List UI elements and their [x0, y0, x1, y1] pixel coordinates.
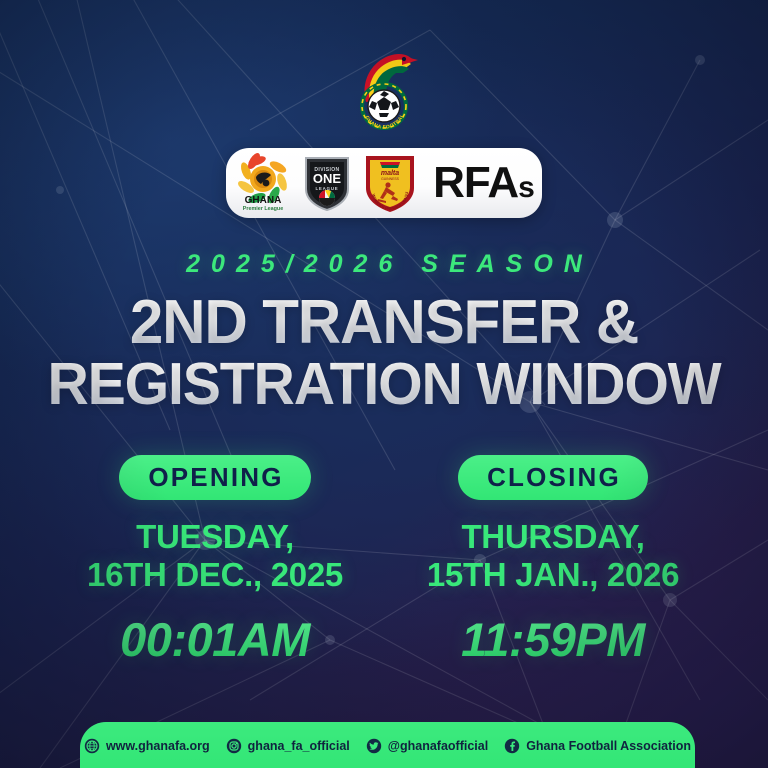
footer-item-website[interactable]: www.ghanafa.org [84, 738, 210, 754]
globe-icon [84, 738, 100, 754]
facebook-icon [504, 738, 520, 754]
closing-date-line-2: 15TH JAN., 2026 [408, 556, 698, 594]
ghana-premier-league-logo: GHANA Premier League [234, 153, 292, 213]
closing-column: CLOSING THURSDAY, 15TH JAN., 2026 11:59P… [408, 455, 698, 663]
season-label: 2025/2026 SEASON [0, 250, 768, 279]
footer-item-instagram[interactable]: ghana_fa_official [226, 738, 350, 754]
svg-text:malta: malta [381, 170, 399, 177]
headline-line-2: REGISTRATION WINDOW [12, 356, 757, 414]
footer-instagram-text: ghana_fa_official [248, 739, 350, 753]
division-one-league-logo: DIVISION ONE LEAGUE [301, 153, 353, 213]
opening-time: 00:01AM [70, 616, 360, 663]
closing-time: 11:59PM [408, 616, 698, 663]
footer-contact-bar: www.ghanafa.org ghana_fa_official @ghana… [80, 722, 695, 768]
footer-website-text: www.ghanafa.org [106, 739, 210, 753]
svg-text:Premier League: Premier League [243, 206, 283, 212]
rfas-suffix-text: s [518, 171, 534, 204]
opening-date: TUESDAY, 16TH DEC., 2025 [70, 518, 360, 594]
footer-facebook-text: Ghana Football Association [526, 739, 691, 753]
closing-date: THURSDAY, 15TH JAN., 2026 [408, 518, 698, 594]
footer-twitter-text: @ghanafaofficial [388, 739, 488, 753]
ghana-football-association-crest: GHANA FOOTBALL ASSOCIATION [336, 44, 432, 130]
footer-item-twitter[interactable]: @ghanafaofficial [366, 738, 488, 754]
svg-text:GUINNESS: GUINNESS [381, 177, 399, 181]
svg-text:GHANA: GHANA [245, 195, 282, 206]
malta-guinness-womens-premier-league-logo: malta GUINNESS WOMEN'S PREMIER LEAGUE [362, 152, 418, 214]
headline-line-1: 2ND TRANSFER & [12, 293, 757, 354]
opening-date-line-1: TUESDAY, [136, 518, 294, 555]
page-title: 2ND TRANSFER & REGISTRATION WINDOW [0, 293, 768, 414]
twitter-icon [366, 738, 382, 754]
opening-column: OPENING TUESDAY, 16TH DEC., 2025 00:01AM [70, 455, 360, 663]
rfas-main-text: RFA [433, 158, 518, 207]
opening-badge: OPENING [119, 455, 310, 500]
opening-date-line-2: 16TH DEC., 2025 [70, 556, 360, 594]
closing-date-line-1: THURSDAY, [461, 518, 644, 555]
window-dates: OPENING TUESDAY, 16TH DEC., 2025 00:01AM… [0, 455, 768, 663]
instagram-icon [226, 738, 242, 754]
svg-text:ONE: ONE [313, 171, 342, 186]
leagues-badge-bar: GHANA Premier League DIVISION ONE LEAGUE [226, 148, 542, 218]
poster-canvas: GHANA FOOTBALL ASSOCIATION GHANA Premier [0, 0, 768, 768]
rfas-label: RFAs [433, 161, 534, 205]
footer-item-facebook[interactable]: Ghana Football Association [504, 738, 691, 754]
closing-badge: CLOSING [458, 455, 648, 500]
